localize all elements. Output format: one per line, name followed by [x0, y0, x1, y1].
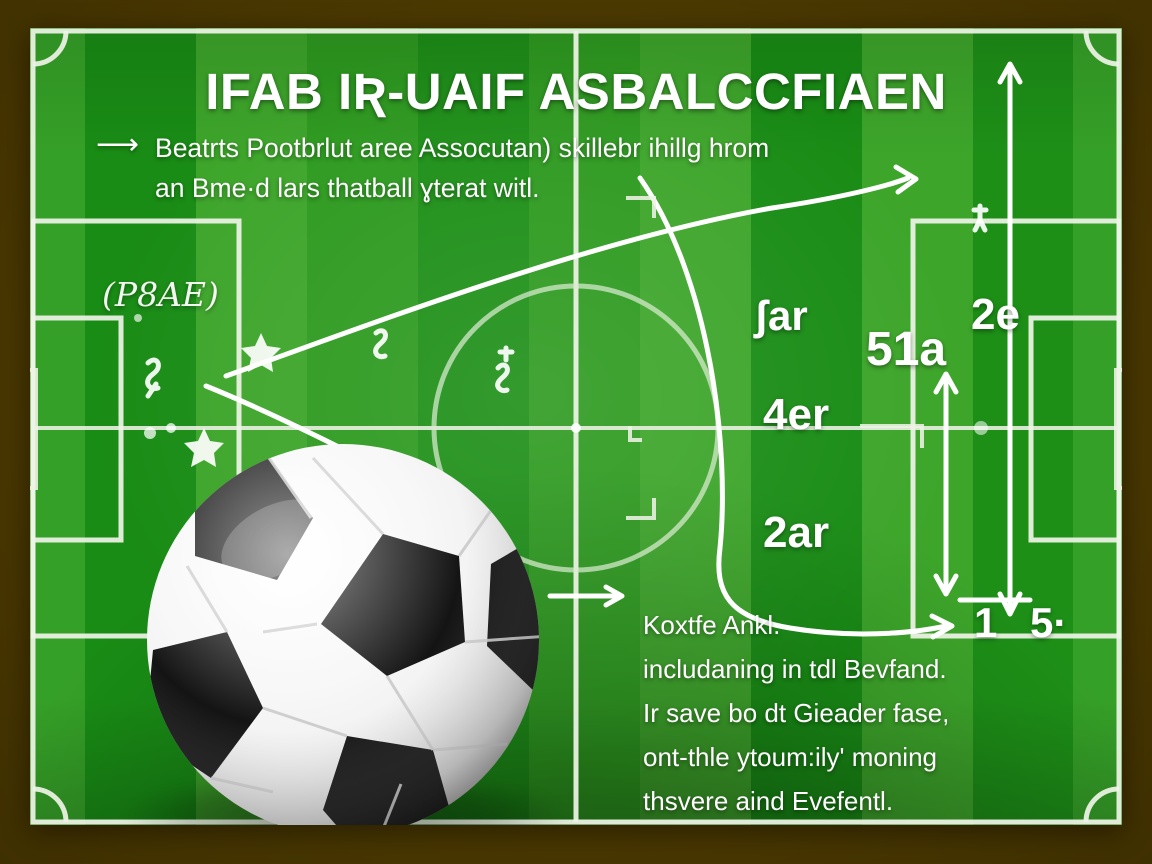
bullet-bottom-line-1: Koxtfe Ankl.: [643, 603, 949, 647]
text-layer: IFAB IƦ-UAIF ASBALCCFIAEN ⟶ Beatrts Poot…: [30, 28, 1122, 825]
label-2e: 2e: [971, 293, 1020, 337]
bullet-bottom-body: Koxtfe Ankl. includaning in tdl Bevfand.…: [643, 603, 949, 823]
bullet-bottom-line-5: thsvere aind Evefentl.: [643, 779, 949, 823]
label-4er: 4er: [763, 393, 829, 437]
bullet-bottom: ⟶ Koxtfe Ankl. includaning in tdl Bevfan…: [586, 603, 1106, 823]
pbae-tag: (P8AE): [102, 277, 219, 313]
bullet-top-body: Beatrts Pootbrlut aree Assocutan) skille…: [155, 128, 769, 208]
bullet-top: ⟶ Beatrts Pootbrlut aree Assocutan) skil…: [96, 128, 1096, 208]
right-arrow-icon: ⟶: [96, 128, 139, 162]
bullet-bottom-line-2: includaning in tdl Bevfand.: [643, 647, 949, 691]
bullet-top-line-1: Beatrts Pootbrlut aree Assocutan) skille…: [155, 128, 769, 168]
football-pitch: .ln{fill:none;stroke:#eef3e6;stroke-widt…: [30, 28, 1122, 825]
label-51a: 51a: [866, 326, 946, 374]
page-title: IFAB IƦ-UAIF ASBALCCFIAEN: [30, 62, 1122, 121]
infographic-root: .ln{fill:none;stroke:#eef3e6;stroke-widt…: [0, 0, 1152, 864]
bullet-bottom-line-4: ont-thle ytoum:ily' moning: [643, 735, 949, 779]
bullet-top-line-2: an Bme·d lars thatball ɣterat witl.: [155, 168, 769, 208]
bullet-bottom-line-3: Ir save bo dt Gieader fase,: [643, 691, 949, 735]
label-2ar: 2ar: [763, 511, 829, 555]
label-sar: ʃar: [754, 295, 808, 337]
